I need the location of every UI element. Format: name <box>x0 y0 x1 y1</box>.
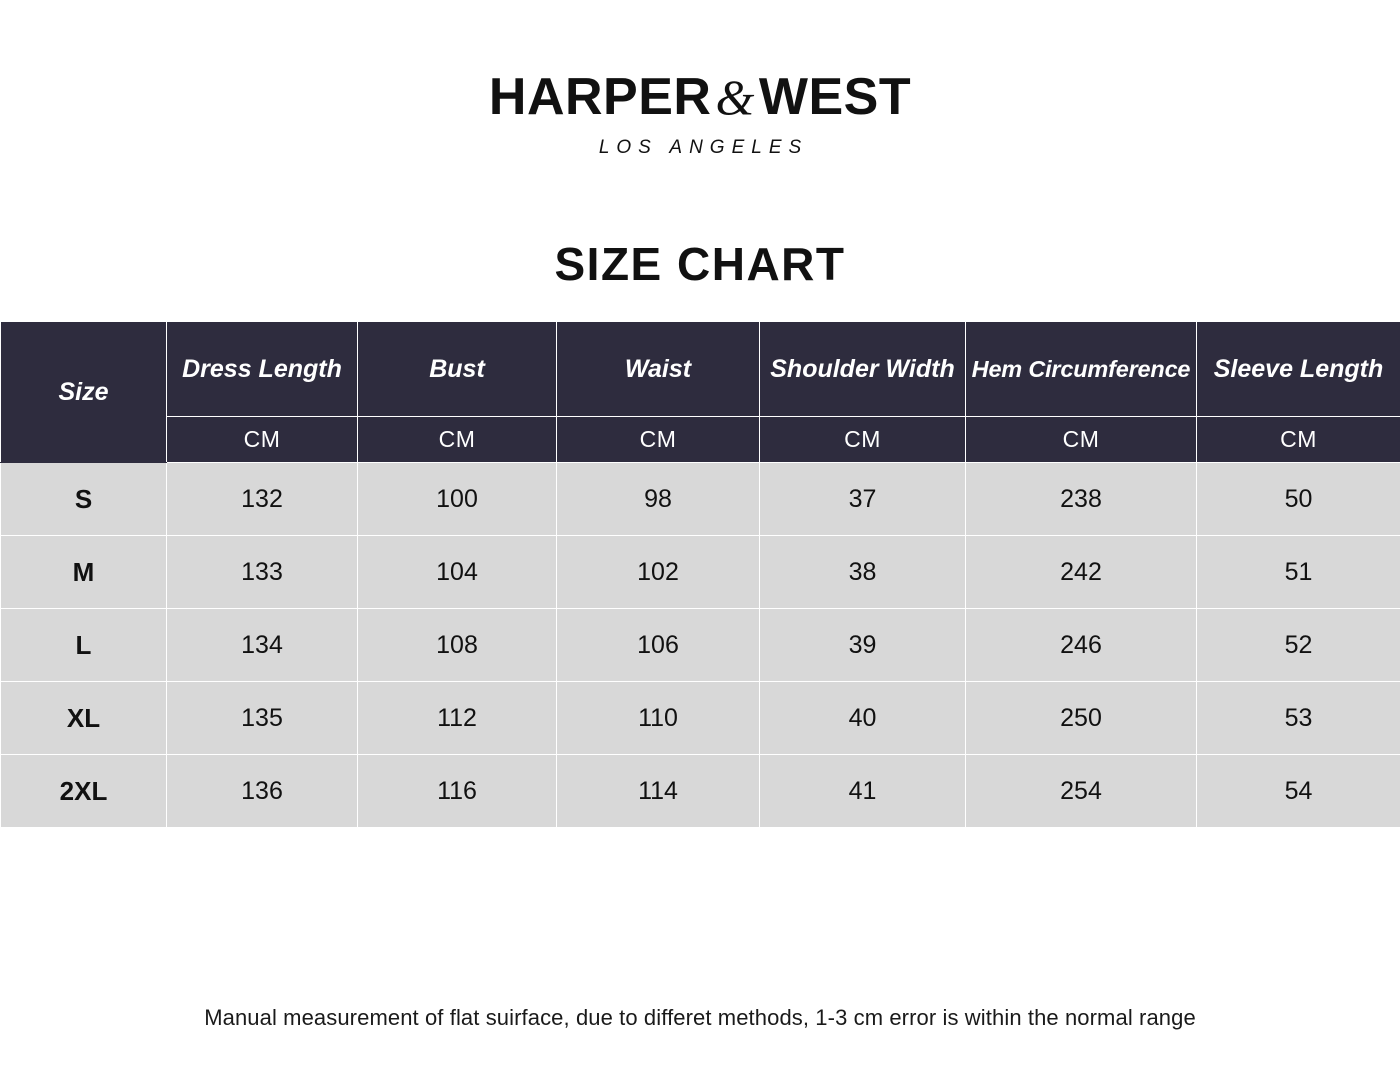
table-header-row-units: CM CM CM CM CM CM <box>1 417 1400 463</box>
unit-header-waist: CM <box>557 417 760 463</box>
cell-waist: 106 <box>557 609 760 682</box>
brand-name-part2: WEST <box>759 68 911 126</box>
cell-size: L <box>1 609 167 682</box>
cell-waist: 114 <box>557 755 760 828</box>
unit-header-bust: CM <box>358 417 557 463</box>
cell-shoulder-width: 40 <box>760 682 966 755</box>
unit-header-dress-length: CM <box>167 417 358 463</box>
table-row: L 134 108 106 39 246 52 <box>1 609 1400 682</box>
cell-sleeve-length: 54 <box>1197 755 1400 828</box>
cell-bust: 100 <box>358 463 557 536</box>
column-header-waist: Waist <box>557 322 760 417</box>
cell-bust: 112 <box>358 682 557 755</box>
column-header-hem-circumference: Hem Circumference <box>966 322 1197 417</box>
brand-name-part1: HARPER <box>489 68 712 126</box>
cell-bust: 116 <box>358 755 557 828</box>
page-title: SIZE CHART <box>0 237 1400 291</box>
table-row: 2XL 136 116 114 41 254 54 <box>1 755 1400 828</box>
cell-hem-circumference: 238 <box>966 463 1197 536</box>
brand-block: HARPER&WEST LOS ANGELES <box>0 0 1400 159</box>
cell-waist: 110 <box>557 682 760 755</box>
cell-sleeve-length: 50 <box>1197 463 1400 536</box>
cell-hem-circumference: 242 <box>966 536 1197 609</box>
cell-size: 2XL <box>1 755 167 828</box>
cell-hem-circumference: 246 <box>966 609 1197 682</box>
cell-dress-length: 132 <box>167 463 358 536</box>
cell-dress-length: 135 <box>167 682 358 755</box>
cell-dress-length: 133 <box>167 536 358 609</box>
table-header: Size Dress Length Bust Waist Shoulder Wi… <box>1 322 1400 463</box>
cell-bust: 104 <box>358 536 557 609</box>
column-header-size: Size <box>1 322 167 463</box>
cell-bust: 108 <box>358 609 557 682</box>
table-header-row-metrics: Size Dress Length Bust Waist Shoulder Wi… <box>1 322 1400 417</box>
cell-hem-circumference: 254 <box>966 755 1197 828</box>
cell-shoulder-width: 37 <box>760 463 966 536</box>
cell-waist: 98 <box>557 463 760 536</box>
column-header-bust: Bust <box>358 322 557 417</box>
cell-dress-length: 134 <box>167 609 358 682</box>
cell-sleeve-length: 53 <box>1197 682 1400 755</box>
table-body: S 132 100 98 37 238 50 M 133 104 102 38 … <box>1 463 1400 828</box>
cell-shoulder-width: 41 <box>760 755 966 828</box>
size-chart-table-container: Size Dress Length Bust Waist Shoulder Wi… <box>0 321 1400 828</box>
table-row: M 133 104 102 38 242 51 <box>1 536 1400 609</box>
column-header-sleeve-length: Sleeve Length <box>1197 322 1400 417</box>
brand-title: HARPER&WEST <box>0 70 1400 125</box>
cell-size: S <box>1 463 167 536</box>
unit-header-sleeve-length: CM <box>1197 417 1400 463</box>
table-row: XL 135 112 110 40 250 53 <box>1 682 1400 755</box>
cell-hem-circumference: 250 <box>966 682 1197 755</box>
cell-size: M <box>1 536 167 609</box>
unit-header-hem-circumference: CM <box>966 417 1197 463</box>
measurement-disclaimer: Manual measurement of flat suirface, due… <box>0 1005 1400 1031</box>
cell-shoulder-width: 39 <box>760 609 966 682</box>
brand-ampersand: & <box>711 69 758 125</box>
unit-header-shoulder-width: CM <box>760 417 966 463</box>
brand-tagline: LOS ANGELES <box>0 137 1400 159</box>
cell-waist: 102 <box>557 536 760 609</box>
column-header-dress-length: Dress Length <box>167 322 358 417</box>
table-row: S 132 100 98 37 238 50 <box>1 463 1400 536</box>
column-header-shoulder-width: Shoulder Width <box>760 322 966 417</box>
cell-size: XL <box>1 682 167 755</box>
cell-sleeve-length: 52 <box>1197 609 1400 682</box>
cell-shoulder-width: 38 <box>760 536 966 609</box>
cell-dress-length: 136 <box>167 755 358 828</box>
cell-sleeve-length: 51 <box>1197 536 1400 609</box>
size-chart-table: Size Dress Length Bust Waist Shoulder Wi… <box>0 321 1400 828</box>
